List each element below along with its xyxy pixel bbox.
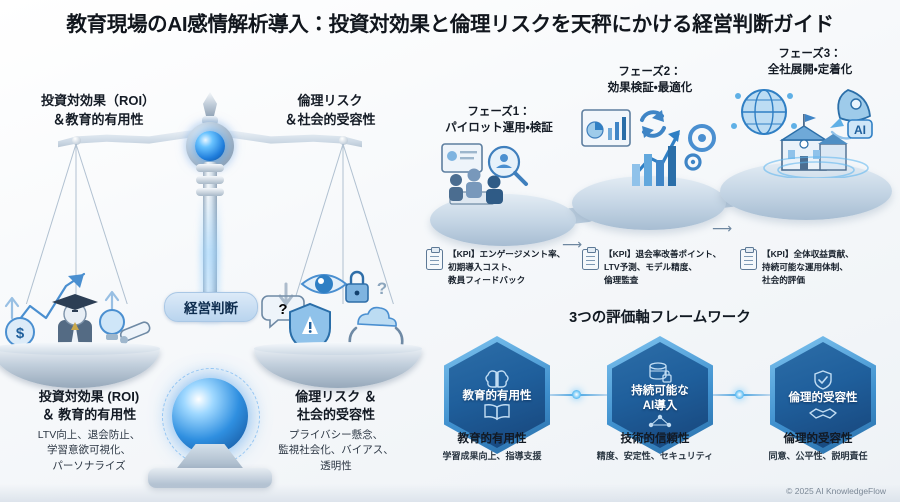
kpi-text: 【KPI】退会率改善ポイント、LTV予測、モデル精度、倫理監査 (604, 248, 721, 287)
phase-2-illustration (580, 104, 730, 190)
scale-collar (196, 176, 224, 184)
eye-icon (302, 275, 346, 293)
framework-caption-sub: 学習成果向上、指導支援 (427, 449, 557, 462)
framework-node-label: 持続可能なAI導入 (631, 384, 689, 414)
framework-connector-node-1 (572, 390, 581, 399)
phase-2-title: フェーズ2：効果検証・最適化 (570, 64, 730, 96)
right-pan-caption-detail: プライバシー懸念、監視社会化、バイアス、透明性 (252, 428, 420, 474)
framework-caption-2: 技術的信頼性 精度、安定性、セキュリティ (590, 430, 720, 462)
page-title: 教育現場のAI感情解析導入：投資対効果と倫理リスクを天秤にかける経営判断ガイド (0, 4, 900, 40)
framework-node-label: 教育的有用性 (463, 389, 532, 404)
globe-network-icon (731, 90, 797, 134)
framework-caption-title: 技術的信頼性 (590, 430, 720, 446)
framework-caption-title: 倫理的受容性 (753, 430, 883, 446)
left-pan-caption-title: 投資対効果 (ROI)＆ 教育的有用性 (0, 388, 178, 423)
phase-arrow-2-icon: ⟶ (712, 220, 732, 237)
gear-icon (686, 126, 714, 169)
framework-caption-1: 教育的有用性 学習成果向上、指導支援 (427, 430, 557, 462)
phase-1-title: フェーズ1：パイロット運用・検証 (424, 104, 574, 136)
shield-check-icon (812, 369, 834, 391)
handshake-icon (808, 405, 838, 421)
clipboard-icon (740, 249, 757, 270)
phase-1-illustration (438, 140, 568, 212)
framework-title: 3つの評価軸フレームワーク (420, 306, 900, 327)
kpi-text: 【KPI】エンゲージメント率、初期導入コスト、教員フィードバック (448, 248, 565, 287)
left-pan-icon-group: $ (0, 260, 160, 355)
framework-caption-sub: 精度、安定性、セキュリティ (590, 449, 720, 462)
framework-connector-node-2 (735, 390, 744, 399)
dashboard-chart-icon (582, 110, 630, 146)
database-lock-icon (647, 362, 673, 384)
monitor-profile-icon (442, 144, 482, 172)
phase-3-title: フェーズ3：全社展開・定着化 (730, 46, 890, 78)
left-pan-caption: 投資対効果 (ROI)＆ 教育的有用性 LTV向上、退会防止、学習意欲可視化、パ… (0, 388, 178, 474)
svg-text:AI: AI (854, 123, 866, 137)
kpi-item-phase-1: 【KPI】エンゲージメント率、初期導入コスト、教員フィードバック (426, 248, 586, 287)
framework-caption-3: 倫理的受容性 同意、公平性、説明責任 (753, 430, 883, 462)
scale-collar (196, 164, 224, 172)
svg-text:?: ? (377, 279, 387, 298)
framework-panel: 3つの評価軸フレームワーク 教育的有用性 (420, 306, 900, 496)
brain-icon (484, 369, 510, 389)
clipboard-icon (582, 249, 599, 270)
bar-chart-icon (632, 146, 676, 186)
left-pan (0, 348, 160, 388)
balance-scale-panel: 投資対効果（ROI）＆教育的有用性 倫理リスク＆社会的受容性 (0, 44, 420, 502)
infographic-canvas: 教育現場のAI感情解析導入：投資対効果と倫理リスクを天秤にかける経営判断ガイド … (0, 0, 900, 502)
kpi-item-phase-2: 【KPI】退会率改善ポイント、LTV予測、モデル精度、倫理監査 (582, 248, 742, 287)
right-pan-caption: 倫理リスク ＆社会的受容性 プライバシー懸念、監視社会化、バイアス、透明性 (252, 388, 420, 474)
lock-icon (346, 272, 368, 302)
ai-badge-icon: AI (848, 120, 872, 138)
copyright-footer: © 2025 AI KnowledgeFlow (786, 486, 886, 496)
phase-3-illustration: AI (720, 82, 896, 178)
refresh-cycle-icon (642, 110, 664, 138)
scale-orb-icon (172, 378, 248, 454)
left-pan-caption-detail: LTV向上、退会防止、学習意欲可視化、パーソナライズ (0, 428, 178, 474)
right-pan-icon-group: ? ? (254, 260, 422, 355)
network-icon (647, 414, 673, 428)
dollar-cycle-icon: $ (6, 318, 34, 346)
clipboard-icon (426, 249, 443, 270)
kpi-row: 【KPI】エンゲージメント率、初期導入コスト、教員フィードバック 【KPI】退会… (420, 244, 900, 300)
bottom-gradient-bar (0, 484, 900, 502)
kpi-text: 【KPI】全体収益貢献、持続可能な運用体制、社会的評価 (762, 248, 854, 287)
open-book-icon (483, 403, 511, 421)
framework-caption-sub: 同意、公平性、説明責任 (753, 449, 883, 462)
kpi-item-phase-3: 【KPI】全体収益貢献、持続可能な運用体制、社会的評価 (740, 248, 900, 287)
svg-text:$: $ (16, 325, 25, 342)
framework-node-label: 倫理的受容性 (789, 391, 858, 406)
framework-caption-title: 教育的有用性 (427, 430, 557, 446)
phase-roadmap-panel: フェーズ1：パイロット運用・検証 フェーズ2：効果検証・最適化 フェーズ3：全社… (420, 44, 900, 302)
management-decision-badge: 経営判断 (164, 292, 258, 322)
right-pan (254, 348, 422, 388)
right-pan-caption-title: 倫理リスク ＆社会的受容性 (252, 388, 420, 423)
